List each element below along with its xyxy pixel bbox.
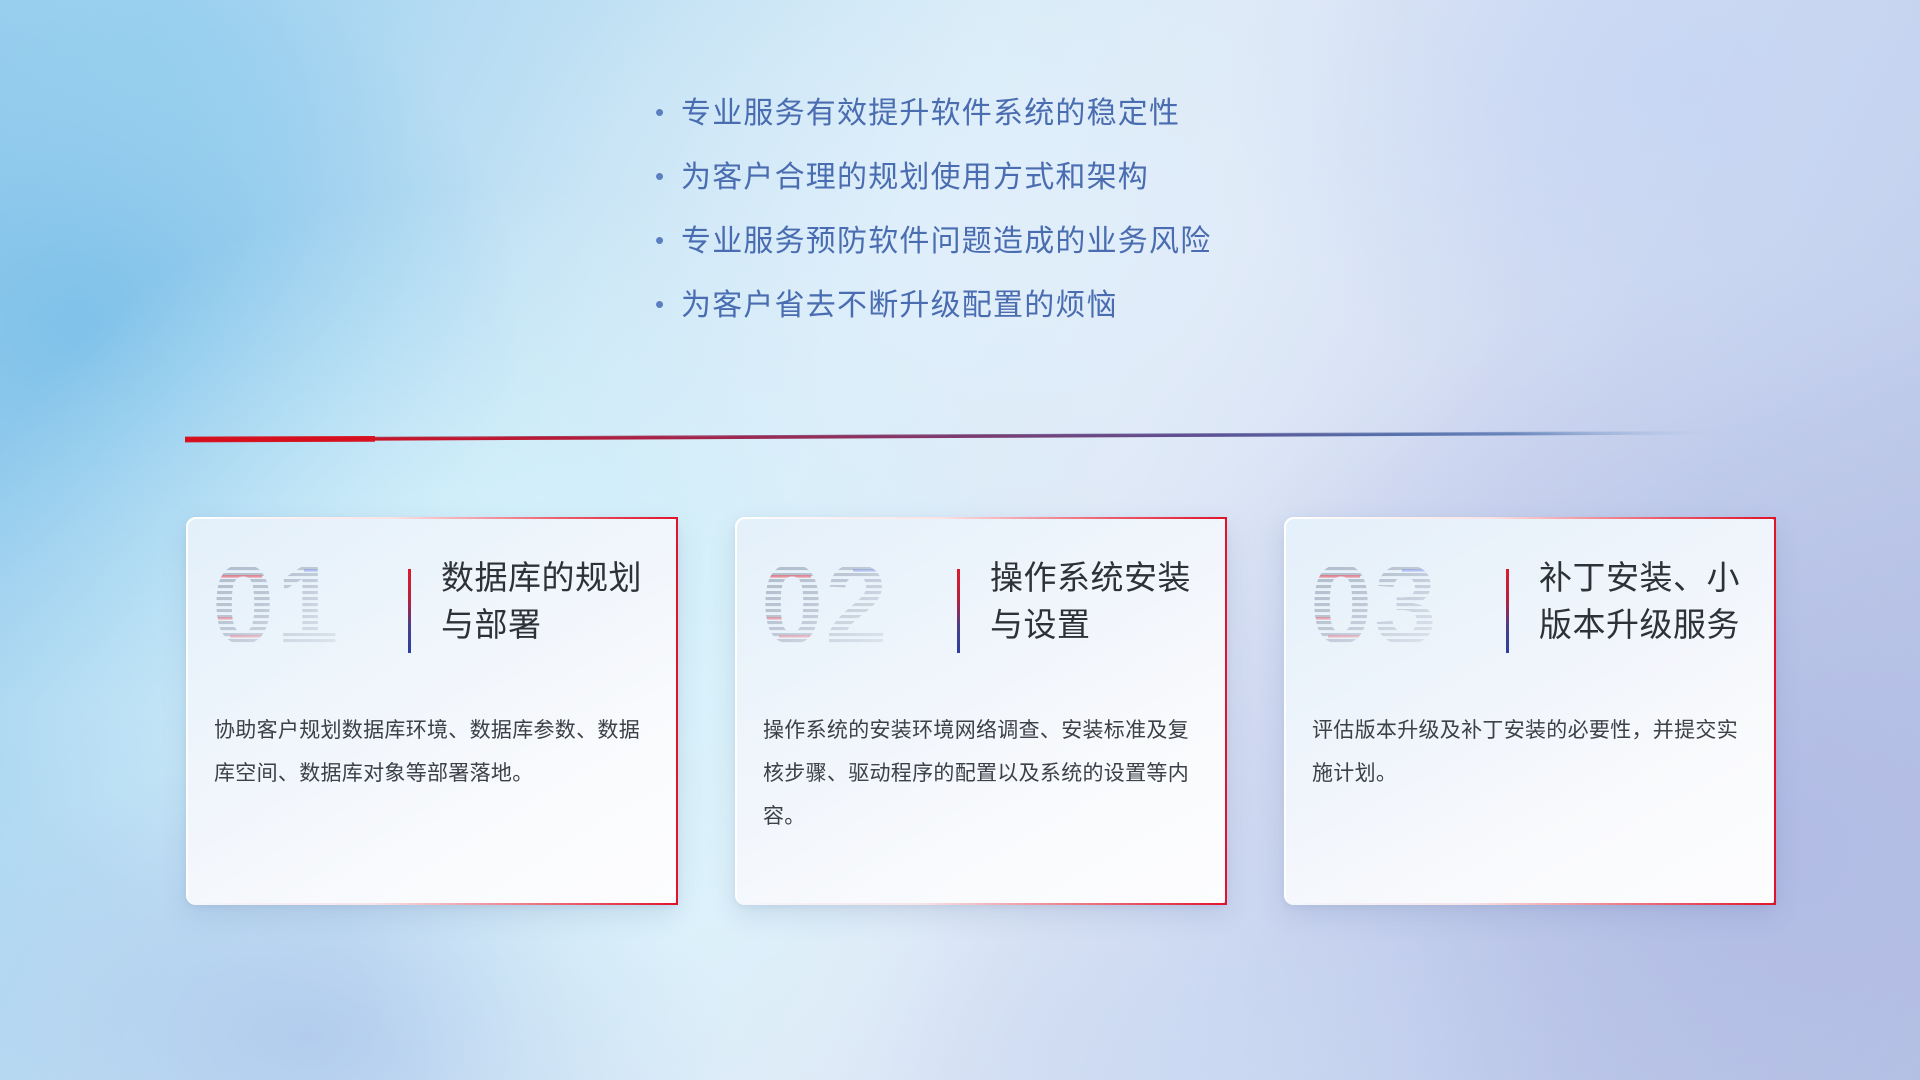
card-accent-bottom-border bbox=[735, 903, 1227, 905]
section-divider bbox=[185, 424, 1730, 444]
benefits-bullet-list: • 专业服务有效提升软件系统的稳定性 • 为客户合理的规划使用方式和架构 • 专… bbox=[655, 96, 1211, 352]
card-accent-bottom-border bbox=[186, 903, 678, 905]
bullet-dot-icon: • bbox=[655, 163, 681, 189]
card-title-separator bbox=[957, 569, 960, 653]
list-item: • 为客户省去不断升级配置的烦恼 bbox=[655, 288, 1211, 352]
card-description: 操作系统的安装环境网络调查、安装标准及复核步骤、驱动程序的配置以及系统的设置等内… bbox=[763, 709, 1203, 838]
card-accent-bottom-border bbox=[1284, 903, 1776, 905]
bullet-dot-icon: • bbox=[655, 99, 681, 125]
card-number-graphic: 01 bbox=[212, 555, 372, 659]
bullet-dot-icon: • bbox=[655, 227, 681, 253]
card-title: 数据库的规划与部署 bbox=[441, 555, 654, 649]
card-title-separator bbox=[408, 569, 411, 653]
card-number-graphic: 02 bbox=[761, 555, 921, 659]
card-header: 02 操作系统安装与设置 bbox=[735, 517, 1227, 685]
bullet-text: 专业服务预防软件问题造成的业务风险 bbox=[681, 224, 1211, 260]
card-number-graphic: 03 bbox=[1310, 555, 1470, 659]
list-item: • 专业服务有效提升软件系统的稳定性 bbox=[655, 96, 1211, 160]
card-title: 补丁安装、小版本升级服务 bbox=[1539, 555, 1752, 649]
card-header: 01 数据库的规划与部署 bbox=[186, 517, 678, 685]
bullet-text: 专业服务有效提升软件系统的稳定性 bbox=[681, 96, 1180, 132]
list-item: • 为客户合理的规划使用方式和架构 bbox=[655, 160, 1211, 224]
card-description: 协助客户规划数据库环境、数据库参数、数据库空间、数据库对象等部署落地。 bbox=[214, 709, 654, 795]
service-cards-row: 01 数据库的规划与部署 协助客户规划数据库环境、 bbox=[186, 517, 1776, 907]
bullet-text: 为客户省去不断升级配置的烦恼 bbox=[681, 288, 1118, 324]
list-item: • 专业服务预防软件问题造成的业务风险 bbox=[655, 224, 1211, 288]
bullet-text: 为客户合理的规划使用方式和架构 bbox=[681, 160, 1149, 196]
service-card[interactable]: 02 操作系统安装与设置 操作系统的安装环境网络调 bbox=[735, 517, 1227, 905]
card-description: 评估版本升级及补丁安装的必要性，并提交实施计划。 bbox=[1312, 709, 1752, 795]
card-title-separator bbox=[1506, 569, 1509, 653]
bullet-dot-icon: • bbox=[655, 291, 681, 317]
card-title: 操作系统安装与设置 bbox=[990, 555, 1203, 649]
service-card[interactable]: 01 数据库的规划与部署 协助客户规划数据库环境、 bbox=[186, 517, 678, 905]
service-card[interactable]: 03 补丁安装、小版本升级服务 评估版本升级及补丁 bbox=[1284, 517, 1776, 905]
card-header: 03 补丁安装、小版本升级服务 bbox=[1284, 517, 1776, 685]
